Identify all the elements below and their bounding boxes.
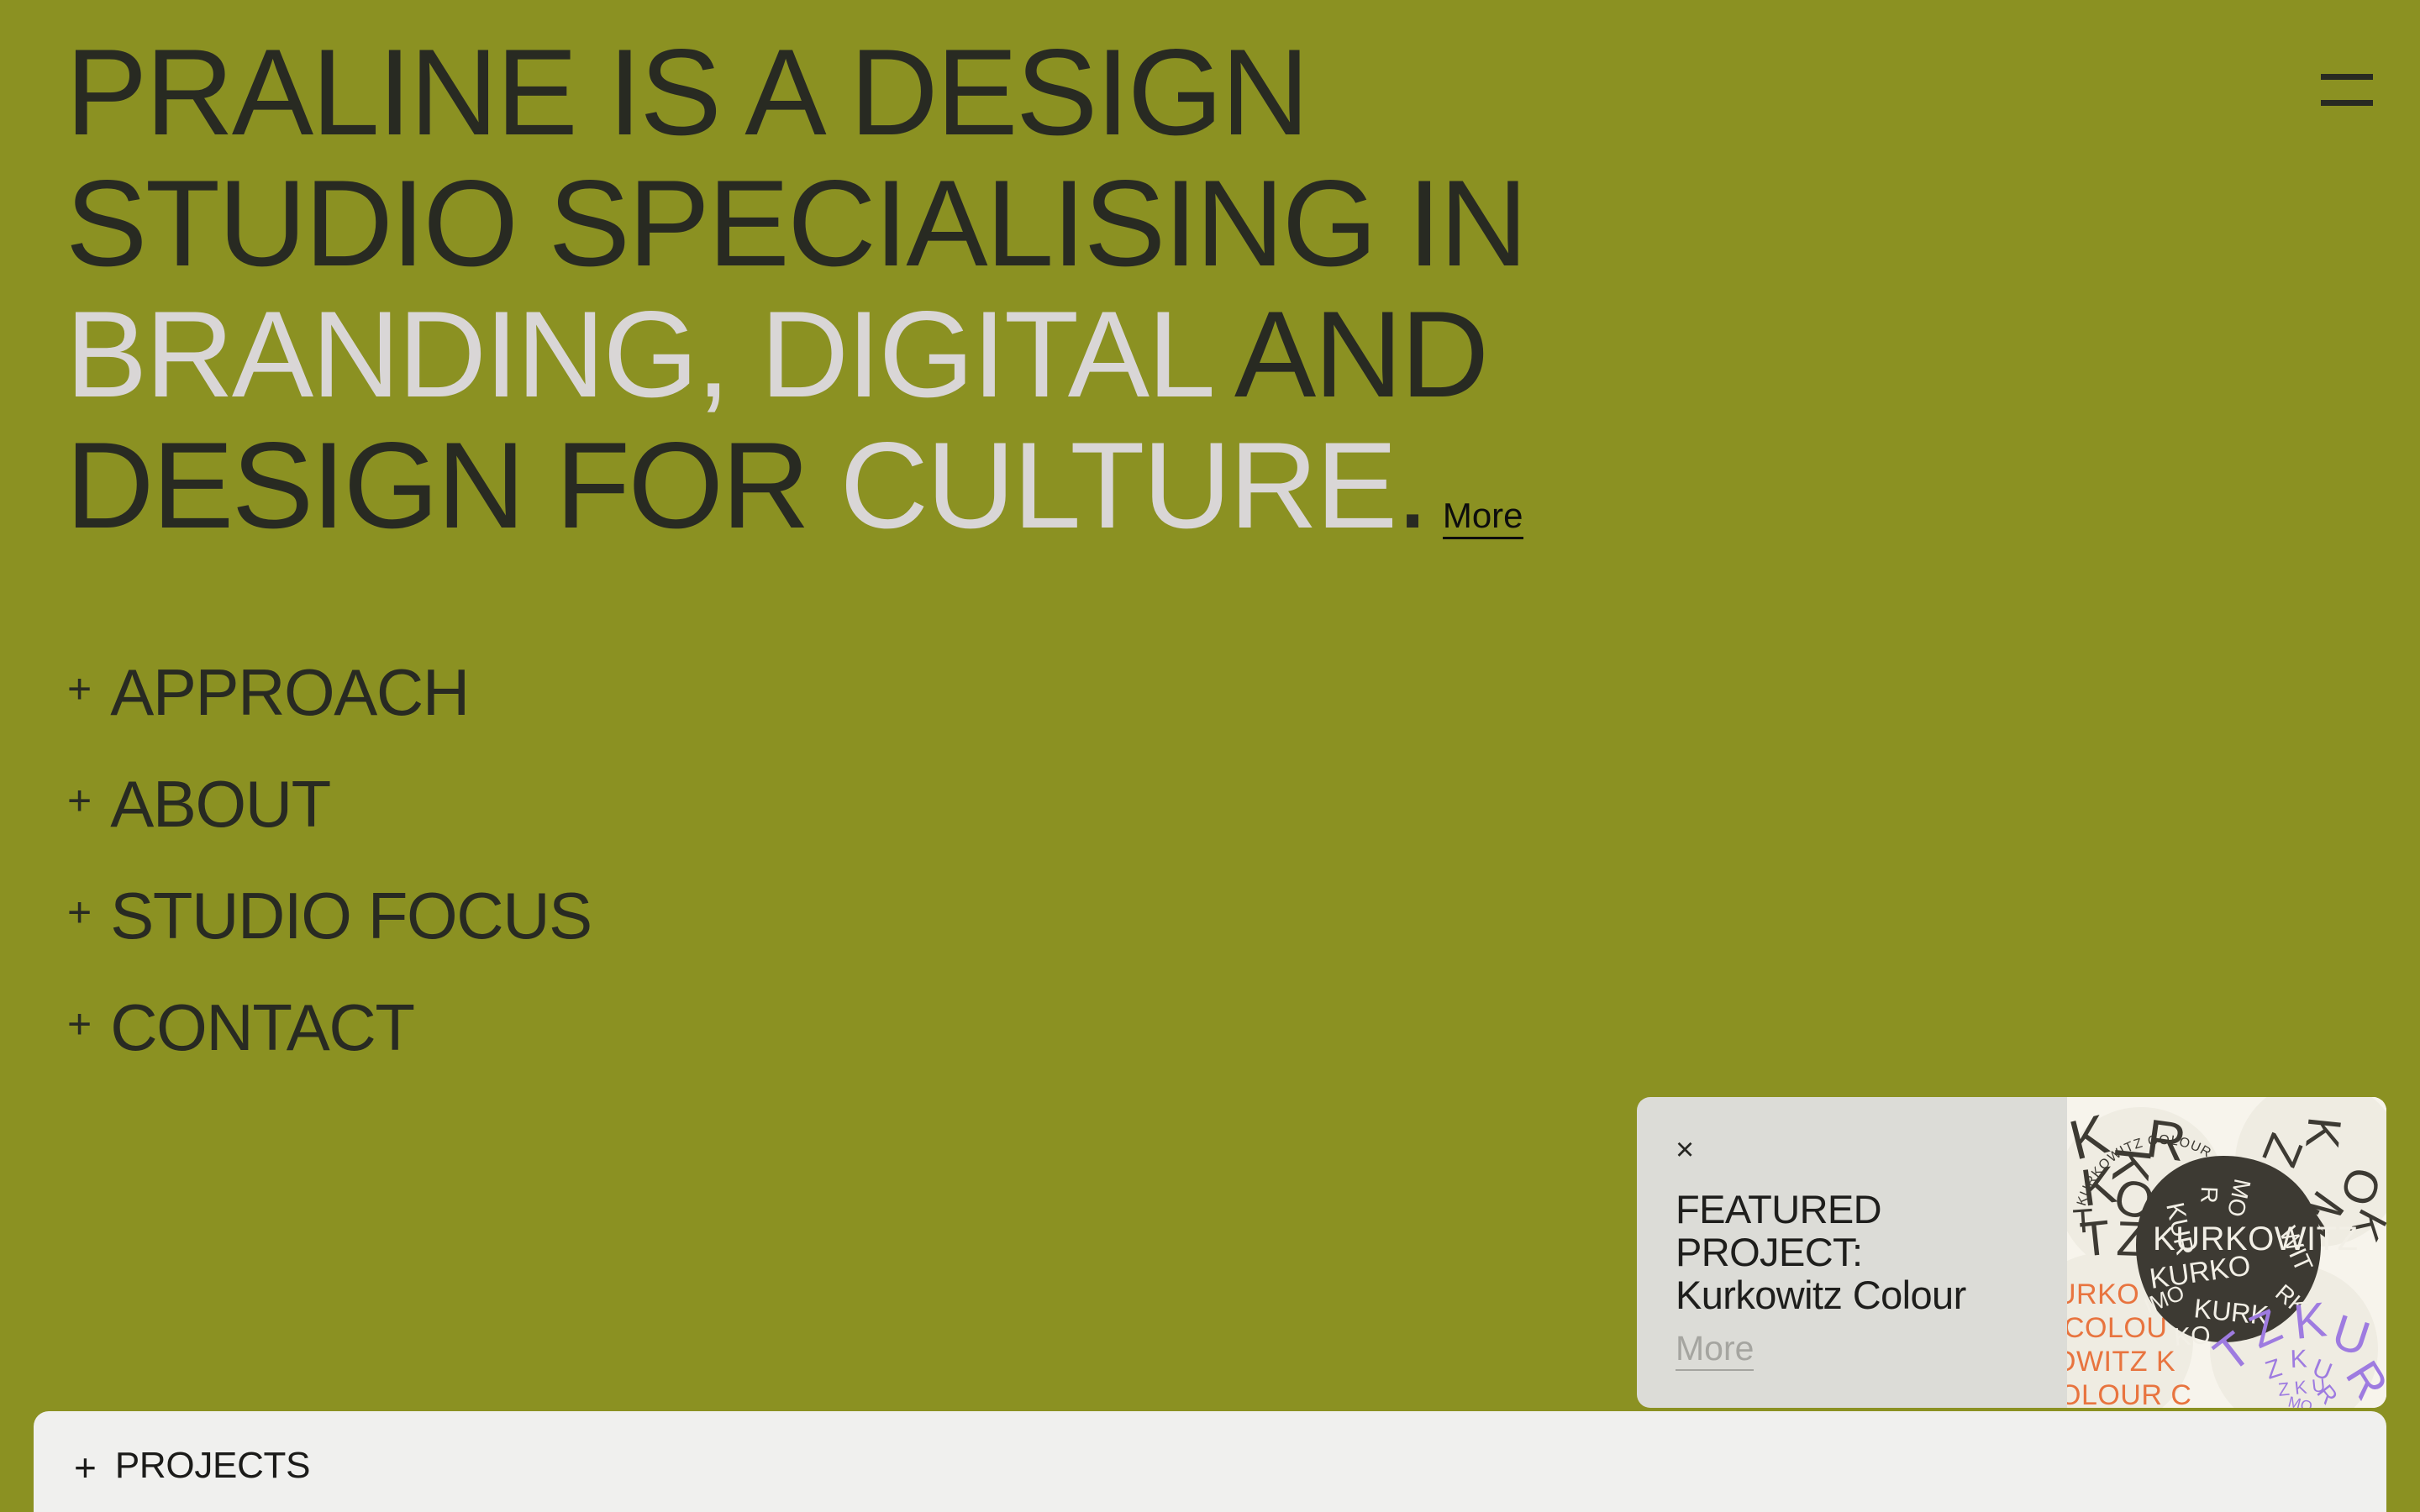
headline-line-3-accent: BRANDING, DIGITAL	[66, 286, 1209, 423]
projects-label: PROJECTS	[115, 1447, 310, 1484]
svg-text:K: K	[2291, 1292, 2330, 1350]
nav-item-label: CONTACT	[110, 989, 413, 1066]
hero-headline: PRALINE IS A DESIGN STUDIO SPECIALISING …	[66, 27, 1914, 551]
nav-item-label: STUDIO FOCUS	[110, 877, 592, 954]
svg-text:OWITZ K: OWITZ K	[2067, 1346, 2175, 1378]
plus-icon: +	[67, 668, 92, 710]
featured-card-thumbnail[interactable]: K K R K O T Z M Z T KURKOWITZ COLOUR Z	[2067, 1097, 2386, 1408]
hero-more-link[interactable]: More	[1443, 498, 1523, 539]
headline-line-2: STUDIO SPECIALISING IN	[66, 155, 1526, 291]
projects-panel: + PROJECTS	[34, 1411, 2386, 1512]
plus-icon: +	[67, 891, 92, 933]
nav-item-about[interactable]: + ABOUT	[67, 765, 592, 877]
featured-card-body: × FEATURED PROJECT: Kurkowitz Colour Mor…	[1637, 1097, 2067, 1408]
plus-icon: +	[74, 1448, 97, 1487]
hamburger-icon-bar-bottom	[2321, 100, 2373, 106]
close-icon[interactable]: ×	[1676, 1134, 1707, 1166]
featured-card-title: FEATURED PROJECT: Kurkowitz Colour	[1676, 1188, 2067, 1316]
featured-card-more-link[interactable]: More	[1676, 1330, 1754, 1371]
svg-text:R: R	[2196, 1186, 2223, 1204]
nav-item-label: APPROACH	[110, 654, 469, 731]
svg-text:URKO: URKO	[2067, 1278, 2139, 1310]
hamburger-menu-button[interactable]	[2314, 60, 2386, 119]
svg-text:OLOUR C: OLOUR C	[2067, 1379, 2191, 1408]
headline-line-4-lead: DESIGN FOR	[66, 417, 840, 554]
nav-item-contact[interactable]: + CONTACT	[67, 989, 592, 1100]
headline-line-4-accent: CULTURE	[840, 417, 1396, 554]
featured-card-eyebrow: FEATURED PROJECT:	[1676, 1187, 1881, 1274]
hamburger-icon-bar-top	[2321, 74, 2373, 80]
headline-line-1: PRALINE IS A DESIGN	[66, 24, 1307, 160]
plus-icon: +	[67, 780, 92, 822]
headline-line-3-tail: AND	[1209, 286, 1487, 423]
svg-text:K: K	[2290, 1345, 2307, 1373]
svg-text:K: K	[2296, 1115, 2352, 1152]
nav-item-approach[interactable]: + APPROACH	[67, 654, 592, 765]
svg-text:T: T	[2072, 1202, 2095, 1241]
projects-toggle[interactable]: + PROJECTS	[34, 1411, 310, 1485]
nav-item-label: ABOUT	[110, 765, 330, 843]
nav-item-studio-focus[interactable]: + STUDIO FOCUS	[67, 877, 592, 989]
featured-project-card[interactable]: × FEATURED PROJECT: Kurkowitz Colour Mor…	[1637, 1097, 2386, 1408]
plus-icon: +	[67, 1003, 92, 1045]
featured-card-project-name: Kurkowitz Colour	[1676, 1273, 2067, 1316]
svg-text:KO: KO	[2173, 1321, 2212, 1352]
primary-nav-list: + APPROACH + ABOUT + STUDIO FOCUS + CONT…	[67, 654, 592, 1100]
headline-period: .	[1396, 417, 1428, 554]
